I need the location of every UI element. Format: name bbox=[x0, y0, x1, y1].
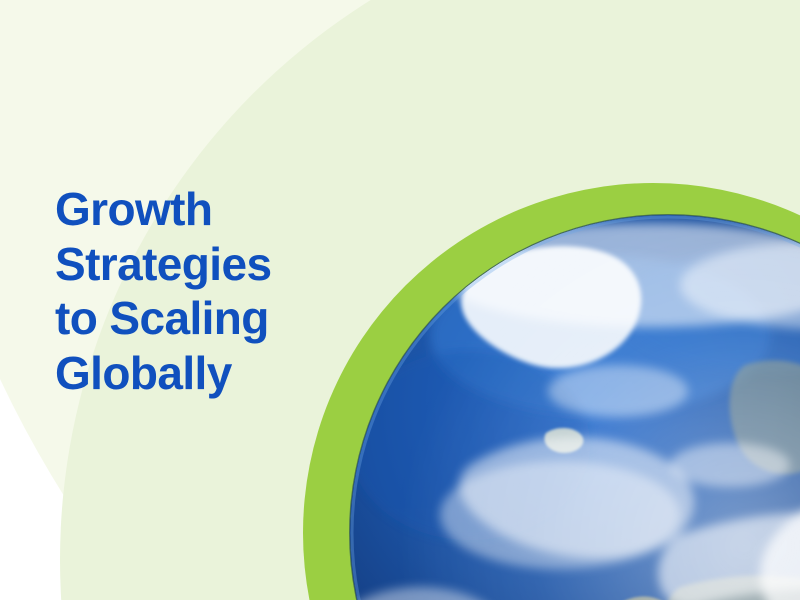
earth-globe-image bbox=[350, 215, 800, 600]
title-line-4: Globally bbox=[55, 346, 375, 401]
earth-satellite-illustration bbox=[350, 215, 800, 600]
slide-canvas: Growth Strategies to Scaling Globally bbox=[0, 0, 800, 600]
page-title: Growth Strategies to Scaling Globally bbox=[55, 182, 375, 400]
title-line-3: to Scaling bbox=[55, 291, 375, 346]
title-line-1: Growth bbox=[55, 182, 375, 237]
title-line-2: Strategies bbox=[55, 237, 375, 292]
